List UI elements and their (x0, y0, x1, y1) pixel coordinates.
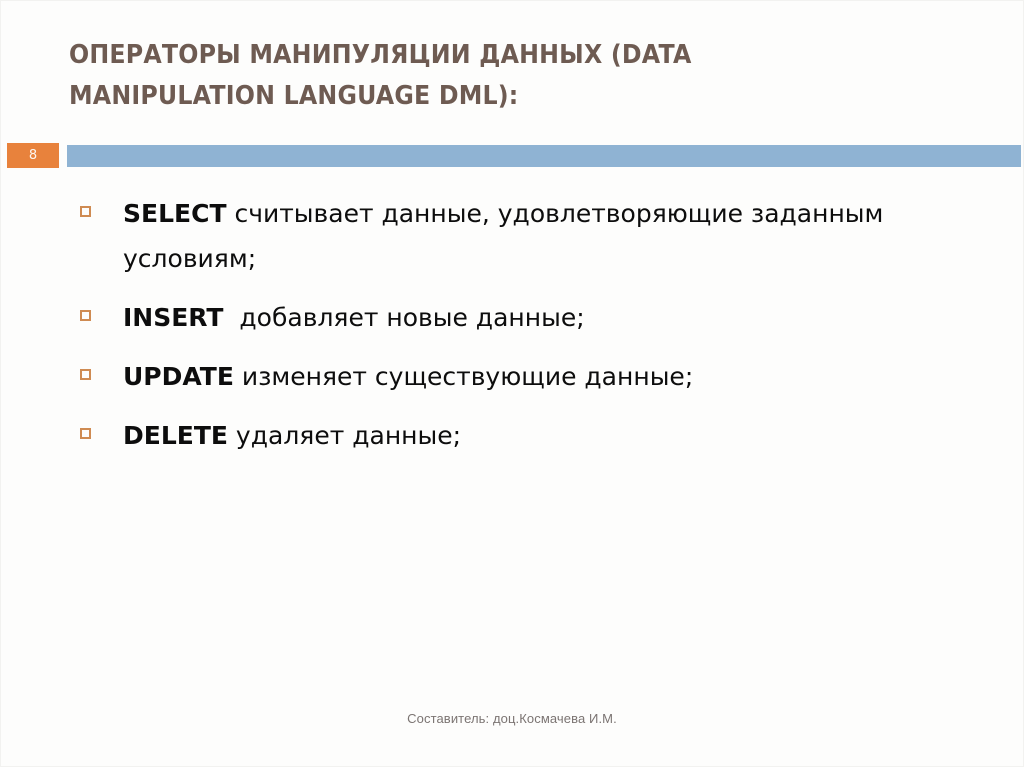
bullet-keyword: UPDATE (123, 362, 234, 391)
accent-bar (67, 145, 1021, 167)
list-item: UPDATE изменяет существующие данные; (77, 354, 977, 399)
hollow-square-bullet-icon (80, 206, 91, 217)
bullet-text: удаляет данные; (228, 421, 461, 450)
list-item: SELECT считывает данные, удовлетворяющие… (77, 191, 977, 281)
bullet-text: добавляет новые данные; (224, 303, 585, 332)
bullet-keyword: INSERT (123, 303, 224, 332)
hollow-square-bullet-icon (80, 428, 91, 439)
slide-number-badge: 8 (7, 143, 59, 168)
hollow-square-bullet-icon (80, 310, 91, 321)
list-item: DELETE удаляет данные; (77, 413, 977, 458)
bullet-keyword: DELETE (123, 421, 228, 450)
bullet-text: изменяет существующие данные; (234, 362, 693, 391)
bullet-list: SELECT считывает данные, удовлетворяющие… (77, 191, 977, 472)
bullet-keyword: SELECT (123, 199, 227, 228)
bullet-text: считывает данные, удовлетворяющие заданн… (123, 199, 891, 273)
list-item: INSERT добавляет новые данные; (77, 295, 977, 340)
presentation-slide: ОПЕРАТОРЫ МАНИПУЛЯЦИИ ДАННЫХ (DATA MANIP… (0, 0, 1024, 767)
page-title: ОПЕРАТОРЫ МАНИПУЛЯЦИИ ДАННЫХ (DATA MANIP… (69, 35, 906, 117)
slide-footer: Составитель: доц.Космачева И.М. (1, 711, 1023, 726)
hollow-square-bullet-icon (80, 369, 91, 380)
